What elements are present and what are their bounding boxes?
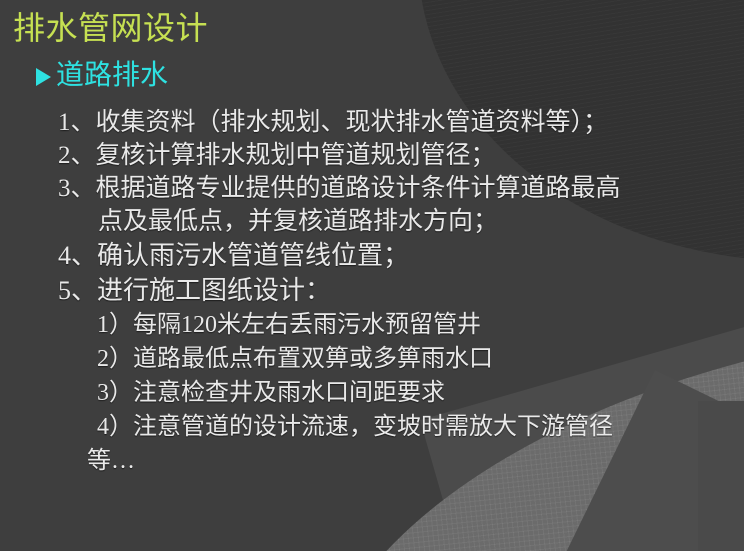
- slide-content: 排水管网设计 道路排水 1、收集资料（排水规划、现状排水管道资料等）； 2、复核…: [0, 0, 744, 551]
- sub-list-item-continuation: 等…: [0, 444, 744, 478]
- list-item-continuation: 点及最低点，并复核道路排水方向；: [0, 205, 744, 238]
- sub-list-item: 3）注意检查井及雨水口间距要求: [0, 376, 744, 410]
- slide-subheading-label: 道路排水: [56, 59, 168, 93]
- sub-list-item: 2）道路最低点布置双箅或多箅雨水口: [0, 342, 744, 376]
- list-item: 2、复核计算排水规划中管道规划管径；: [0, 139, 744, 172]
- list-item: 1、收集资料（排水规划、现状排水管道资料等）；: [0, 106, 744, 139]
- slide-body-list: 1、收集资料（排水规划、现状排水管道资料等）； 2、复核计算排水规划中管道规划管…: [0, 106, 744, 478]
- slide-canvas: 排水管网设计 道路排水 1、收集资料（排水规划、现状排水管道资料等）； 2、复核…: [0, 0, 744, 551]
- slide-title: 排水管网设计: [13, 10, 208, 48]
- sub-list-item: 1）每隔120米左右丢雨污水预留管井: [0, 308, 744, 342]
- sub-list-item: 4）注意管道的设计流速，变坡时需放大下游管径: [0, 410, 744, 444]
- list-item: 4、确认雨污水管道管线位置；: [0, 238, 744, 273]
- arrow-right-bullet-icon: [36, 68, 51, 86]
- slide-subheading: 道路排水: [36, 59, 168, 93]
- list-item: 5、进行施工图纸设计：: [0, 273, 744, 308]
- list-item: 3、根据道路专业提供的道路设计条件计算道路最高: [0, 172, 744, 205]
